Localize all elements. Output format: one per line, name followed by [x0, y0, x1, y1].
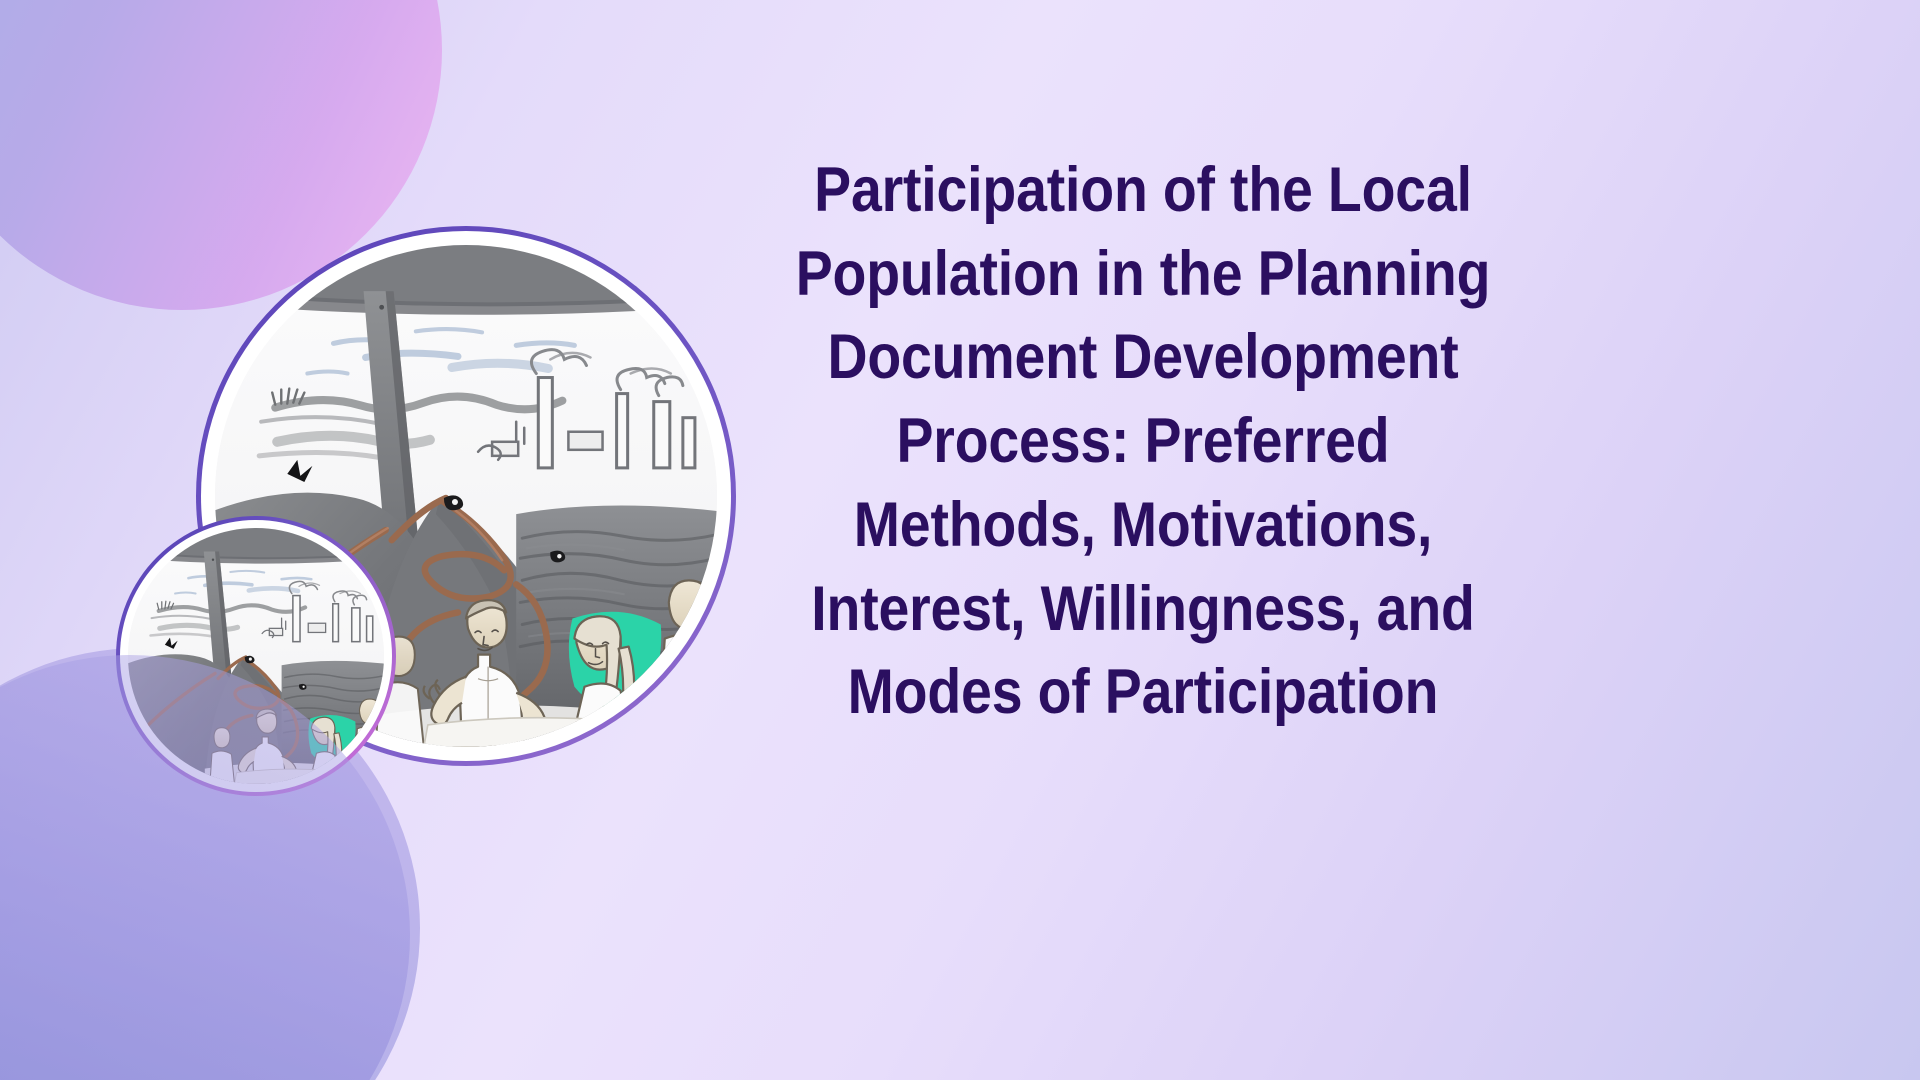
thumbnail-white-ring — [120, 520, 392, 792]
slide-canvas: Participation of the Local Population in… — [0, 0, 1920, 1080]
page-title: Participation of the Local Population in… — [795, 149, 1490, 735]
industrial-sketch-illustration-thumbnail — [128, 528, 384, 784]
thumbnail-image-clip — [128, 528, 384, 784]
title-block: Participation of the Local Population in… — [748, 92, 1538, 792]
thumbnail-circular-image — [116, 516, 396, 796]
